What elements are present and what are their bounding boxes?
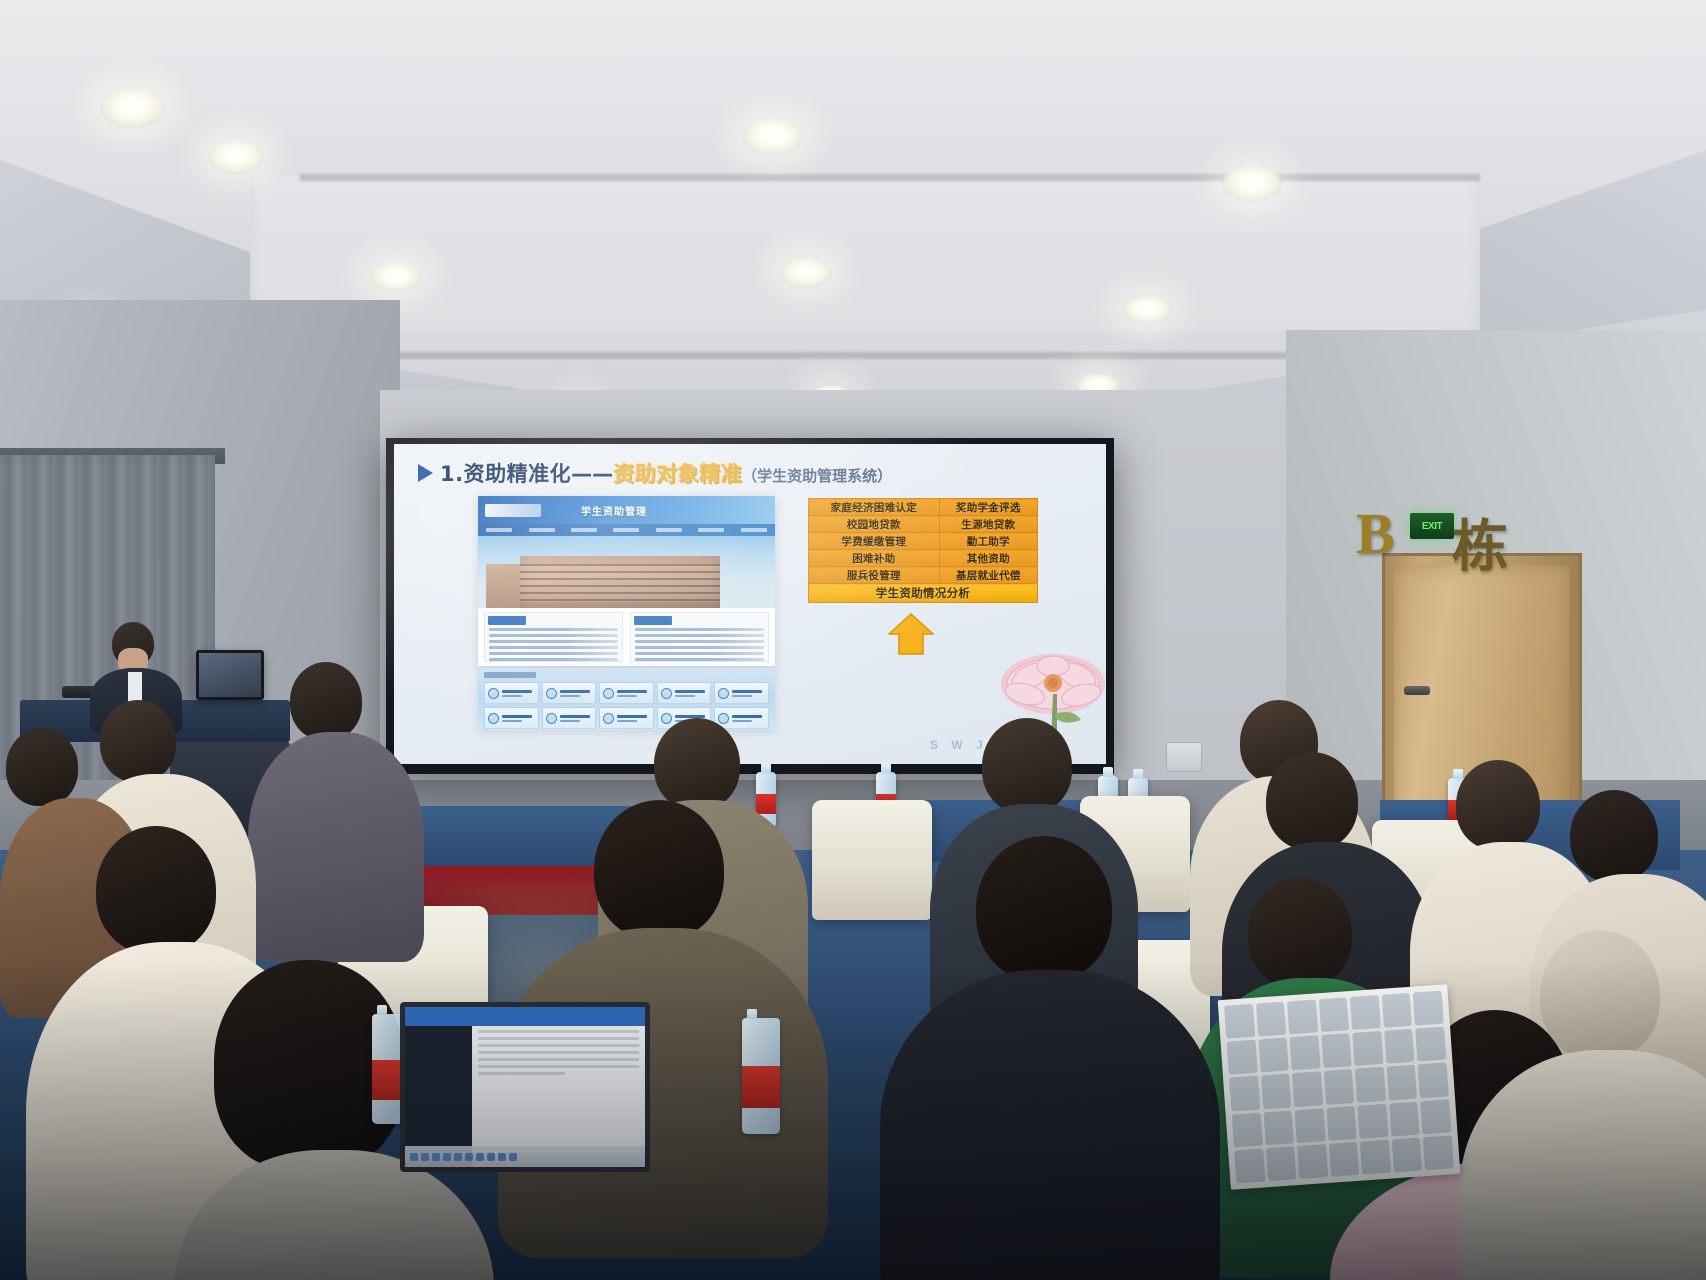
service-card[interactable] <box>484 707 539 729</box>
panel-text-line <box>635 640 764 643</box>
ceiling-downlight <box>780 258 832 288</box>
panel-text-line <box>635 628 764 631</box>
table-row: 困难补助 其他资助 <box>809 550 1038 567</box>
ceiling-groove <box>300 174 1480 181</box>
head <box>976 836 1112 982</box>
panel-text-line <box>635 658 764 661</box>
wall-sign-char: 栋 <box>1452 502 1508 583</box>
ceiling-downlight <box>208 140 264 174</box>
chart-icon <box>488 713 499 724</box>
audience-chair <box>812 800 932 920</box>
table-cell: 服兵役管理 <box>809 567 940 584</box>
panel-text-line <box>489 634 618 637</box>
gear-icon <box>718 713 729 724</box>
work-icon <box>718 688 729 699</box>
ceiling-downlight <box>1222 166 1282 202</box>
nav-item <box>571 528 597 532</box>
panel-text-line <box>635 646 764 649</box>
nav-item <box>741 528 767 532</box>
table-cell: 家庭经济困难认定 <box>809 499 940 516</box>
torso <box>880 970 1220 1280</box>
head <box>100 700 176 782</box>
website-news-panel-left <box>484 612 623 662</box>
table-row: 校园地贷款 生源地贷款 <box>809 516 1038 533</box>
box-icon <box>603 713 614 724</box>
service-card-grid <box>484 682 769 729</box>
loan-icon <box>661 688 672 699</box>
panel-text-line <box>489 628 618 631</box>
panel-header <box>634 616 672 625</box>
award-icon <box>546 688 557 699</box>
panel-header <box>488 616 526 625</box>
head <box>654 718 740 810</box>
laptop-dock <box>405 1146 645 1167</box>
head <box>1540 930 1660 1060</box>
website-banner-image <box>478 536 775 608</box>
led-screen[interactable]: 1. 资助精准化 —— 资助对象精准 （学生资助管理系统） 学生资助管理 <box>394 444 1106 764</box>
head <box>982 718 1072 814</box>
ceiling-downlight <box>1122 296 1172 324</box>
presenter-monitor <box>196 650 264 700</box>
calendar-icon <box>546 713 557 724</box>
table-row-merged: 学生资助情况分析 <box>809 584 1038 603</box>
ceiling-downlight <box>742 118 804 156</box>
panel-text-line <box>489 652 618 655</box>
torso <box>248 732 424 962</box>
laptop-titlebar <box>405 1007 645 1026</box>
wall-sign-letter: B <box>1356 500 1393 567</box>
table-cell: 奖助学金评选 <box>939 499 1037 516</box>
water-bottle[interactable] <box>742 1018 780 1134</box>
service-card[interactable] <box>657 682 712 704</box>
panel-text-line <box>489 658 618 661</box>
panel-text-line <box>635 652 764 655</box>
up-arrow-icon <box>888 612 934 656</box>
service-card[interactable] <box>714 707 769 729</box>
head <box>1266 752 1358 850</box>
slide-title-number: 1. <box>440 462 464 486</box>
head <box>6 728 78 806</box>
head <box>1248 878 1352 988</box>
ceiling-downlight <box>370 262 422 292</box>
website-header-title: 学生资助管理 <box>581 503 647 518</box>
shield-icon <box>661 713 672 724</box>
service-card[interactable] <box>542 682 597 704</box>
attendee-laptop-screen[interactable] <box>400 1002 650 1172</box>
service-card[interactable] <box>714 682 769 704</box>
slide-title-paren: （学生资助管理系统） <box>742 465 892 486</box>
play-triangle-icon <box>418 464 433 482</box>
service-card[interactable] <box>542 707 597 729</box>
aid-modules-table: 家庭经济困难认定 奖助学金评选 校园地贷款 生源地贷款 学费缓缴管理 勤工助学 … <box>808 498 1038 603</box>
table-cell: 校园地贷款 <box>809 516 940 533</box>
table-cell: 困难补助 <box>809 550 940 567</box>
table-row: 家庭经济困难认定 奖助学金评选 <box>809 499 1038 516</box>
light-switch-plate[interactable] <box>1166 742 1202 772</box>
doc-icon <box>603 688 614 699</box>
ceiling-inset-panel <box>250 175 1480 355</box>
panel-text-line <box>489 646 618 649</box>
service-cards-heading <box>484 672 536 678</box>
nav-item <box>698 528 724 532</box>
user-icon <box>488 688 499 699</box>
slide-title-main-gold: 资助对象精准 <box>613 458 742 488</box>
ceiling-downlight <box>100 88 166 128</box>
service-card[interactable] <box>599 707 654 729</box>
website-news-panel-right <box>630 612 769 662</box>
nav-item <box>529 528 555 532</box>
head <box>594 800 724 940</box>
slide-title: 1. 资助精准化 —— 资助对象精准 （学生资助管理系统） <box>418 458 1098 488</box>
table-row: 服兵役管理 基层就业代偿 <box>809 567 1038 584</box>
head <box>1456 760 1540 850</box>
table-cell: 生源地贷款 <box>939 516 1037 533</box>
table-row: 学费缓缴管理 勤工助学 <box>809 533 1038 550</box>
website-screenshot: 学生资助管理 <box>478 496 775 666</box>
table-cell: 其他资助 <box>939 550 1037 567</box>
website-nav-bar <box>478 524 775 536</box>
service-card[interactable] <box>484 682 539 704</box>
panel-text-line <box>489 640 618 643</box>
nav-item <box>613 528 639 532</box>
head <box>1570 790 1658 882</box>
nav-item <box>656 528 682 532</box>
handout-icon-grid <box>1224 991 1454 1184</box>
table-cell: 勤工助学 <box>939 533 1037 550</box>
table-footer-cell: 学生资助情况分析 <box>809 584 1038 603</box>
campus-building <box>520 556 720 608</box>
service-card[interactable] <box>599 682 654 704</box>
website-service-cards <box>478 668 775 730</box>
exit-sign: EXIT <box>1410 513 1454 539</box>
door-handle[interactable] <box>1404 686 1430 695</box>
panel-text-line <box>635 634 764 637</box>
table-cell: 学费缓缴管理 <box>809 533 940 550</box>
slide-title-main-blue: 资助精准化 <box>464 458 572 488</box>
printed-handout[interactable] <box>1218 984 1461 1190</box>
exit-sign-label: EXIT <box>1422 521 1442 532</box>
head <box>96 826 216 954</box>
table-cell: 基层就业代偿 <box>939 567 1037 584</box>
conference-room-photo: B EXIT 栋 1. 资助精准化 —— 资助对象精准 （学生资助管理系统） 学… <box>0 0 1706 1280</box>
head <box>290 662 362 740</box>
nav-item <box>486 528 512 532</box>
university-logo-icon <box>485 504 541 517</box>
slide-title-dash: —— <box>571 462 613 486</box>
website-header: 学生资助管理 <box>478 496 775 524</box>
